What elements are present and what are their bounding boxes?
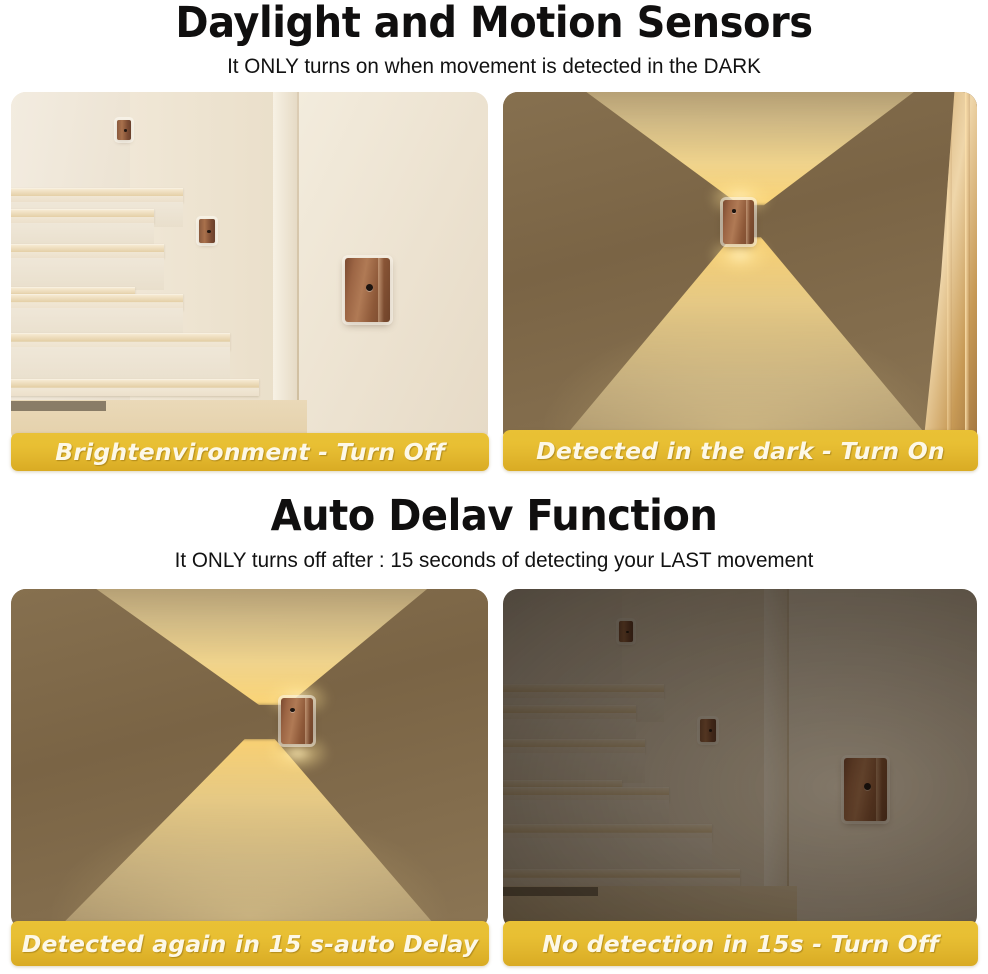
wall-lamp-upper-small	[117, 120, 131, 140]
section-1-subheading: It ONLY turns on when movement is detect…	[20, 56, 968, 78]
wall-corner-pillar	[273, 92, 299, 446]
caption-bar-detected-in-dark: Detected in the dark - Turn On	[503, 430, 978, 471]
section-2-title-block: Auto Delav Function It ONLY turns off af…	[0, 495, 988, 572]
stair-tread	[11, 244, 164, 258]
stair-tread	[11, 188, 183, 202]
caption-bar-no-detection: No detection in 15s - Turn Off	[503, 921, 978, 966]
wall-lamp-lit	[723, 200, 754, 244]
wall-lamp-lit	[281, 698, 313, 744]
lit-wall-scene	[503, 92, 977, 446]
stair-riser	[11, 258, 164, 290]
panel-bright-environment	[11, 92, 488, 446]
caption-text: No detection in 15s - Turn Off	[542, 930, 939, 958]
section-1-heading: Daylight and Motion Sensors	[35, 2, 954, 45]
section-2-heading: Auto Delav Function	[35, 495, 954, 538]
darkness-tint	[503, 589, 977, 930]
panel-detected-in-dark	[503, 92, 977, 446]
panel-no-detection-turn-off	[503, 589, 977, 930]
caption-text: Detected again in 15 s-auto Delay	[22, 930, 479, 958]
caption-text: Brightenvironment - Turn Off	[55, 438, 445, 466]
panel-detected-again-delay	[11, 589, 488, 930]
lit-wall-scene	[11, 589, 488, 930]
front-wall	[297, 92, 488, 446]
section-2-subheading: It ONLY turns off after : 15 seconds of …	[20, 550, 968, 572]
wall-lamp-foreground	[345, 258, 390, 322]
floor-shadow-gap	[11, 401, 106, 410]
stairway-scene-dark	[503, 589, 977, 930]
caption-bar-bright-environment: Brightenvironment - Turn Off	[11, 433, 489, 471]
wall-lamp-middle-small	[199, 219, 215, 242]
caption-bar-detected-again-delay: Detected again in 15 s-auto Delay	[11, 921, 489, 966]
stair-tread	[11, 209, 154, 223]
stair-tread	[11, 379, 259, 397]
section-1-title-block: Daylight and Motion Sensors It ONLY turn…	[0, 2, 988, 78]
caption-text: Detected in the dark - Turn On	[536, 437, 945, 465]
stairway-scene-bright	[11, 92, 488, 446]
